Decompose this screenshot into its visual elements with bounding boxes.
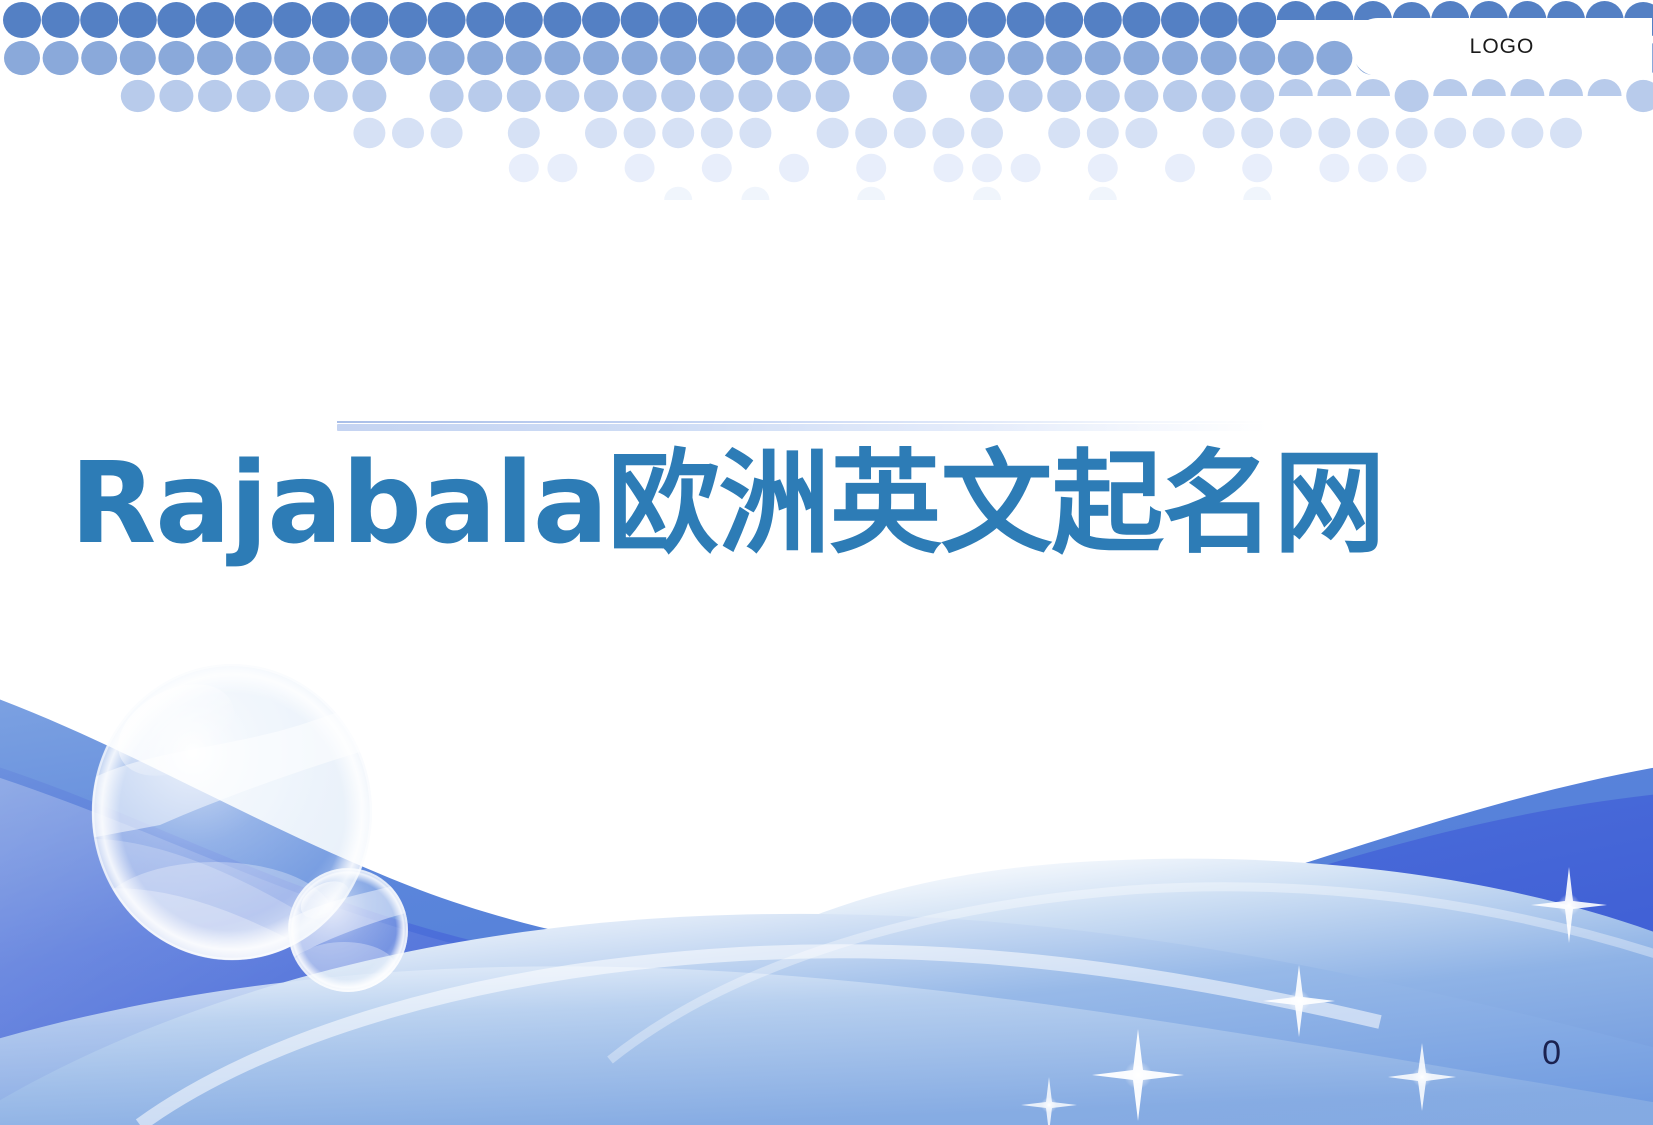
- page-number: 0: [1542, 1034, 1561, 1073]
- page-title: Rajabala欧洲英文起名网: [70, 438, 1590, 570]
- decorative-artwork: [0, 590, 1653, 1125]
- title-divider-rule: [337, 424, 1267, 431]
- title-divider-hairline: [337, 421, 1267, 423]
- presentation-slide: LOGO Rajabala欧洲英文起名网: [0, 0, 1653, 1125]
- logo-placeholder-label: LOGO: [1470, 35, 1535, 59]
- logo-placeholder[interactable]: LOGO: [1352, 18, 1652, 76]
